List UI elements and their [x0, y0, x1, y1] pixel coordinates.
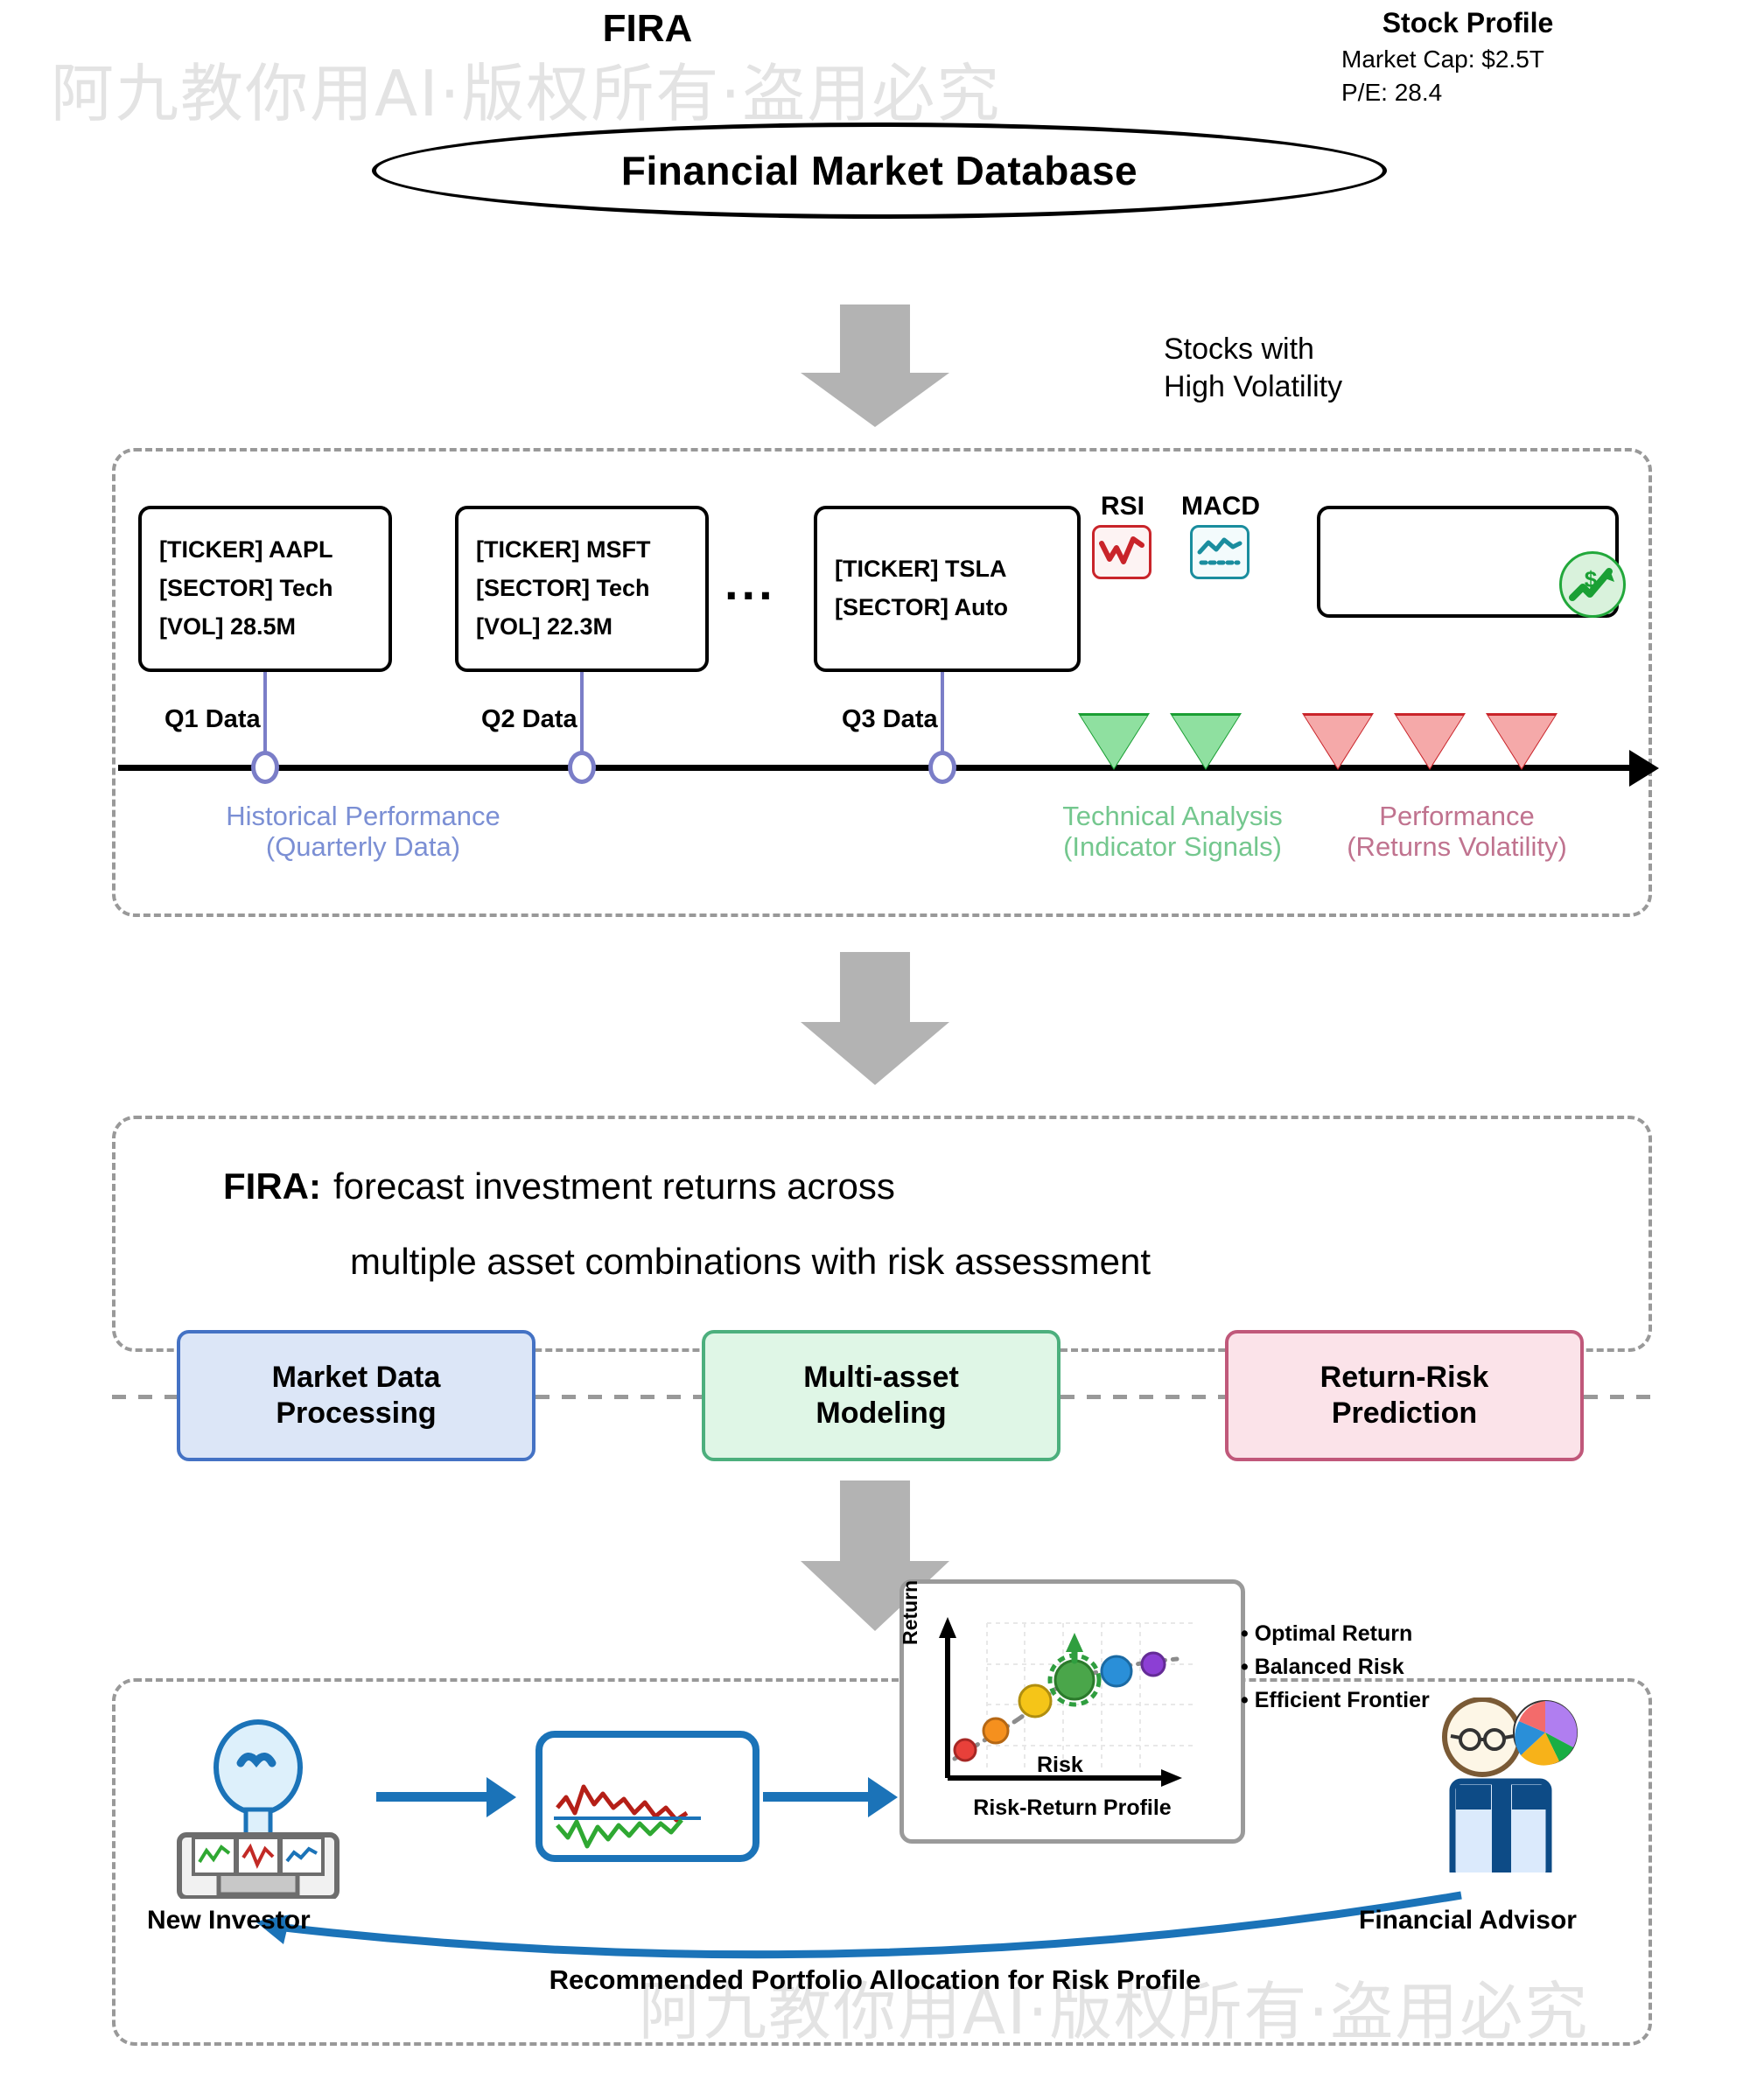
- capability-label: Market Data Processing: [272, 1360, 441, 1432]
- capability-label-line2: Processing: [276, 1396, 436, 1430]
- macd-icon[interactable]: [1190, 525, 1249, 579]
- chart-point-1: [955, 1739, 976, 1760]
- capability-label-line1: Multi-asset: [803, 1361, 959, 1394]
- band-performance-line1: Performance: [1291, 801, 1623, 832]
- chart-point-2: [983, 1718, 1008, 1743]
- capability-label-line1: Market Data: [272, 1361, 441, 1394]
- band-performance-line2: (Returns Volatility): [1291, 832, 1623, 863]
- stock-sector: [SECTOR] Auto: [835, 589, 1060, 627]
- capability-market-data-processing[interactable]: Market Data Processing: [177, 1330, 535, 1461]
- pie-chart-icon: [1514, 1701, 1577, 1766]
- optimal-up-arrow-icon: [1066, 1633, 1083, 1652]
- new-investor-label: New Investor: [147, 1906, 311, 1935]
- arrow-model-to-chart: [763, 1792, 868, 1802]
- fira-signal-icon: [554, 1778, 741, 1850]
- new-investor-icon: [171, 1719, 346, 1903]
- band-label-performance: Performance (Returns Volatility): [1291, 801, 1623, 862]
- model-description-line2: multiple asset combinations with risk as…: [350, 1241, 1151, 1283]
- volatility-note-line2: High Volatility: [1164, 368, 1342, 406]
- stock-card-msft[interactable]: [TICKER] MSFT [SECTOR] Tech [VOL] 22.3M: [455, 506, 709, 672]
- portfolio-caption: Recommended Portfolio Allocation for Ris…: [0, 1964, 1750, 1996]
- chart-ylabel: Return: [899, 1580, 922, 1645]
- bullet-label: Efficient Frontier: [1255, 1688, 1430, 1712]
- band-label-historical: Historical Performance (Quarterly Data): [188, 801, 538, 862]
- flow-arrow-1: [801, 304, 949, 427]
- capability-return-risk-prediction[interactable]: Return-Risk Prediction: [1225, 1330, 1584, 1461]
- model-name: FIRA:: [223, 1165, 321, 1207]
- chart-point-5: [1102, 1656, 1131, 1686]
- chart-point-3: [1019, 1685, 1051, 1717]
- feedback-arrow: [236, 1881, 1479, 1977]
- signal-triangle-red-fill: [1305, 716, 1371, 768]
- band-label-technical: Technical Analysis (Indicator Signals): [1006, 801, 1339, 862]
- signal-triangle-green-fill: [1081, 716, 1147, 768]
- stock-ticker: [TICKER] TSLA: [835, 550, 1060, 589]
- model-description-text1: forecast investment returns across: [333, 1165, 895, 1207]
- capability-connector-right: [1584, 1395, 1652, 1399]
- stock-profile-market-cap: Market Cap: $2.5T: [1341, 45, 1544, 73]
- zigzag-line-icon: [1095, 528, 1149, 577]
- macd-label: MACD: [1181, 492, 1260, 521]
- svg-text:$: $: [1585, 566, 1598, 592]
- financial-advisor-icon: [1428, 1697, 1594, 1877]
- capability-label: Return-Risk Prediction: [1320, 1360, 1489, 1432]
- bullet-item: • Optimal Return: [1241, 1617, 1503, 1650]
- arrow-investor-to-model: [376, 1792, 486, 1802]
- arrow-model-to-chart-head: [868, 1777, 898, 1817]
- timeline-node-q1[interactable]: [251, 751, 279, 784]
- stock-ticker: [TICKER] AAPL: [159, 531, 371, 570]
- stock-ticker: [TICKER] MSFT: [476, 531, 688, 570]
- financial-market-database-node: Financial Market Database: [372, 122, 1387, 219]
- flow-arrow-2: [801, 952, 949, 1092]
- capability-label-line1: Return-Risk: [1320, 1361, 1489, 1394]
- stock-volume: [VOL] 22.3M: [476, 608, 688, 647]
- volatility-note-line1: Stocks with: [1164, 331, 1342, 368]
- model-description-line1: FIRA:forecast investment returns across: [223, 1165, 895, 1207]
- band-historical-line1: Historical Performance: [188, 801, 538, 832]
- stock-card-aapl[interactable]: [TICKER] AAPL [SECTOR] Tech [VOL] 28.5M: [138, 506, 392, 672]
- stock-profile-pe: P/E: 28.4: [1341, 79, 1442, 107]
- timeline-node-q2[interactable]: [568, 751, 596, 784]
- macd-line-icon: [1193, 528, 1247, 577]
- stock-profile-title: Stock Profile: [1317, 7, 1619, 39]
- timeline-arrowhead: [1629, 750, 1659, 787]
- chart-xlabel: Risk: [1037, 1753, 1083, 1778]
- quarter-label-q3: Q3 Data: [842, 705, 938, 734]
- capability-label-line2: Prediction: [1332, 1396, 1477, 1430]
- arrow-investor-to-model-head: [486, 1777, 516, 1817]
- cards-ellipsis: ...: [724, 558, 776, 607]
- watermark-top: 阿九教你用AI·版权所有·盗用必究: [51, 42, 1001, 134]
- signal-triangle-red-fill: [1488, 716, 1555, 768]
- model-stage-container: [112, 1116, 1652, 1352]
- stock-card-tsla[interactable]: [TICKER] TSLA [SECTOR] Auto: [814, 506, 1081, 672]
- database-title: Financial Market Database: [621, 147, 1137, 194]
- quarter-label-q1: Q1 Data: [164, 705, 261, 734]
- fira-model-label: FIRA: [535, 7, 759, 51]
- stock-volume: [VOL] 28.5M: [159, 608, 371, 647]
- signal-triangle-red-fill: [1396, 716, 1463, 768]
- capability-connector-1: [535, 1395, 702, 1399]
- timeline-node-q3[interactable]: [928, 751, 956, 784]
- quarter-label-q2: Q2 Data: [481, 705, 577, 734]
- capability-connector-left: [112, 1395, 178, 1399]
- volatility-note: Stocks with High Volatility: [1164, 331, 1342, 405]
- band-historical-line2: (Quarterly Data): [188, 832, 538, 863]
- bullet-item: • Balanced Risk: [1241, 1650, 1503, 1683]
- bullet-label: Balanced Risk: [1255, 1655, 1404, 1679]
- rsi-icon[interactable]: [1092, 525, 1151, 579]
- bullet-label: Optimal Return: [1255, 1621, 1413, 1646]
- capability-multi-asset-modeling[interactable]: Multi-asset Modeling: [702, 1330, 1060, 1461]
- band-technical-line1: Technical Analysis: [1006, 801, 1339, 832]
- band-technical-line2: (Indicator Signals): [1006, 832, 1339, 863]
- signal-triangle-green-fill: [1172, 716, 1239, 768]
- chart-title: Risk-Return Profile: [899, 1795, 1245, 1821]
- capability-label: Multi-asset Modeling: [803, 1360, 959, 1432]
- chart-point-optimal: [1055, 1661, 1094, 1699]
- dollar-trend-up-icon: $: [1559, 551, 1626, 618]
- stock-sector: [SECTOR] Tech: [476, 570, 688, 608]
- rsi-label: RSI: [1101, 492, 1144, 521]
- capability-label-line2: Modeling: [815, 1396, 946, 1430]
- chart-point-6: [1142, 1653, 1165, 1676]
- stock-sector: [SECTOR] Tech: [159, 570, 371, 608]
- financial-advisor-label: Financial Advisor: [1359, 1906, 1577, 1935]
- diagram-root: 阿九教你用AI·版权所有·盗用必究 阿九教你用AI·版权所有·盗用必究 Fina…: [0, 0, 1750, 2100]
